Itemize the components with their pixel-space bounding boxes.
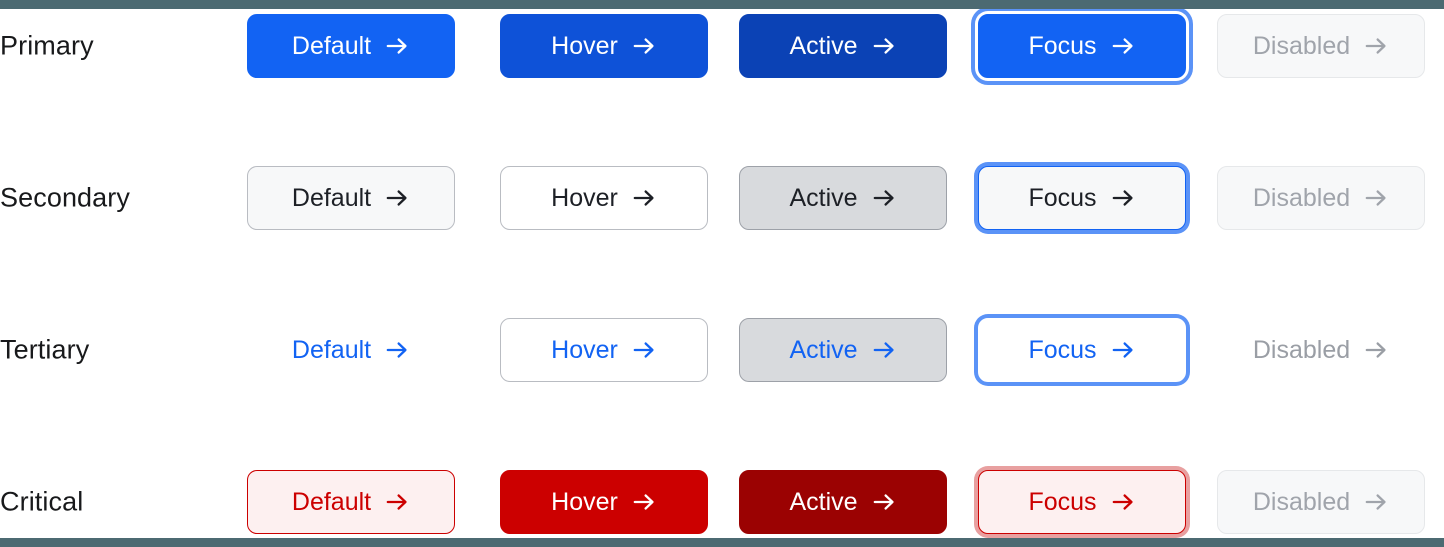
arrow-right-icon bbox=[1110, 33, 1136, 59]
button-label: Focus bbox=[1028, 490, 1096, 515]
button-label: Disabled bbox=[1253, 338, 1350, 363]
cell-critical-focus: Focus bbox=[978, 470, 1186, 534]
cell-primary-hover: Hover bbox=[500, 14, 708, 78]
button-secondary-active[interactable]: Active bbox=[739, 166, 947, 230]
button-label: Disabled bbox=[1253, 186, 1350, 211]
button-label: Default bbox=[292, 490, 371, 515]
button-primary-disabled: Disabled bbox=[1217, 14, 1425, 78]
arrow-right-icon bbox=[1110, 185, 1136, 211]
button-label: Hover bbox=[551, 490, 618, 515]
cell-critical-disabled: Disabled bbox=[1217, 470, 1425, 534]
cell-secondary-default: Default bbox=[247, 166, 455, 230]
arrow-right-icon bbox=[1363, 185, 1389, 211]
button-label: Active bbox=[789, 338, 857, 363]
cell-critical-default: Default bbox=[247, 470, 455, 534]
arrow-right-icon bbox=[1363, 337, 1389, 363]
button-primary-active[interactable]: Active bbox=[739, 14, 947, 78]
button-label: Default bbox=[292, 186, 371, 211]
cell-tertiary-focus: Focus bbox=[978, 318, 1186, 382]
button-label: Focus bbox=[1028, 338, 1096, 363]
cell-primary-active: Active bbox=[739, 14, 947, 78]
row-secondary: Secondary Default Hover Active bbox=[0, 166, 1444, 230]
button-secondary-focus[interactable]: Focus bbox=[978, 166, 1186, 230]
arrow-right-icon bbox=[1363, 489, 1389, 515]
row-label-primary: Primary bbox=[0, 31, 94, 62]
button-primary-hover[interactable]: Hover bbox=[500, 14, 708, 78]
cell-primary-default: Default bbox=[247, 14, 455, 78]
button-tertiary-default[interactable]: Default bbox=[247, 318, 455, 382]
cell-tertiary-active: Active bbox=[739, 318, 947, 382]
arrow-right-icon bbox=[631, 337, 657, 363]
button-label: Focus bbox=[1028, 34, 1096, 59]
button-primary-default[interactable]: Default bbox=[247, 14, 455, 78]
button-critical-focus[interactable]: Focus bbox=[978, 470, 1186, 534]
arrow-right-icon bbox=[631, 33, 657, 59]
cell-tertiary-disabled: Disabled bbox=[1217, 318, 1425, 382]
cell-primary-disabled: Disabled bbox=[1217, 14, 1425, 78]
button-label: Disabled bbox=[1253, 34, 1350, 59]
button-critical-default[interactable]: Default bbox=[247, 470, 455, 534]
button-label: Hover bbox=[551, 34, 618, 59]
button-tertiary-focus[interactable]: Focus bbox=[978, 318, 1186, 382]
arrow-right-icon bbox=[1110, 489, 1136, 515]
button-label: Focus bbox=[1028, 186, 1096, 211]
cell-secondary-active: Active bbox=[739, 166, 947, 230]
button-label: Default bbox=[292, 34, 371, 59]
arrow-right-icon bbox=[1110, 337, 1136, 363]
button-tertiary-active[interactable]: Active bbox=[739, 318, 947, 382]
button-label: Hover bbox=[551, 186, 618, 211]
cell-primary-focus: Focus bbox=[978, 14, 1186, 78]
button-label: Disabled bbox=[1253, 490, 1350, 515]
button-label: Active bbox=[789, 186, 857, 211]
cell-critical-hover: Hover bbox=[500, 470, 708, 534]
arrow-right-icon bbox=[384, 489, 410, 515]
cell-secondary-hover: Hover bbox=[500, 166, 708, 230]
button-label: Hover bbox=[551, 338, 618, 363]
button-label: Default bbox=[292, 338, 371, 363]
arrow-right-icon bbox=[384, 33, 410, 59]
cell-tertiary-default: Default bbox=[247, 318, 455, 382]
row-label-critical: Critical bbox=[0, 487, 83, 518]
cell-critical-active: Active bbox=[739, 470, 947, 534]
button-secondary-hover[interactable]: Hover bbox=[500, 166, 708, 230]
arrow-right-icon bbox=[871, 33, 897, 59]
button-secondary-default[interactable]: Default bbox=[247, 166, 455, 230]
button-critical-active[interactable]: Active bbox=[739, 470, 947, 534]
row-primary: Primary Default Hover Active bbox=[0, 14, 1444, 78]
row-label-tertiary: Tertiary bbox=[0, 335, 89, 366]
arrow-right-icon bbox=[1363, 33, 1389, 59]
arrow-right-icon bbox=[871, 489, 897, 515]
button-label: Active bbox=[789, 34, 857, 59]
arrow-right-icon bbox=[384, 337, 410, 363]
arrow-right-icon bbox=[631, 185, 657, 211]
bottom-edge-bar bbox=[0, 538, 1444, 547]
button-critical-disabled: Disabled bbox=[1217, 470, 1425, 534]
button-secondary-disabled: Disabled bbox=[1217, 166, 1425, 230]
arrow-right-icon bbox=[871, 185, 897, 211]
row-tertiary: Tertiary Default Hover Active bbox=[0, 318, 1444, 382]
arrow-right-icon bbox=[871, 337, 897, 363]
cell-tertiary-hover: Hover bbox=[500, 318, 708, 382]
arrow-right-icon bbox=[384, 185, 410, 211]
button-tertiary-disabled: Disabled bbox=[1217, 318, 1425, 382]
cell-secondary-focus: Focus bbox=[978, 166, 1186, 230]
top-edge-bar bbox=[0, 0, 1444, 9]
arrow-right-icon bbox=[631, 489, 657, 515]
row-label-secondary: Secondary bbox=[0, 183, 130, 214]
button-label: Active bbox=[789, 490, 857, 515]
button-states-matrix: Primary Default Hover Active bbox=[0, 0, 1444, 547]
button-critical-hover[interactable]: Hover bbox=[500, 470, 708, 534]
button-tertiary-hover[interactable]: Hover bbox=[500, 318, 708, 382]
button-primary-focus[interactable]: Focus bbox=[978, 14, 1186, 78]
cell-secondary-disabled: Disabled bbox=[1217, 166, 1425, 230]
row-critical: Critical Default Hover Active bbox=[0, 470, 1444, 534]
